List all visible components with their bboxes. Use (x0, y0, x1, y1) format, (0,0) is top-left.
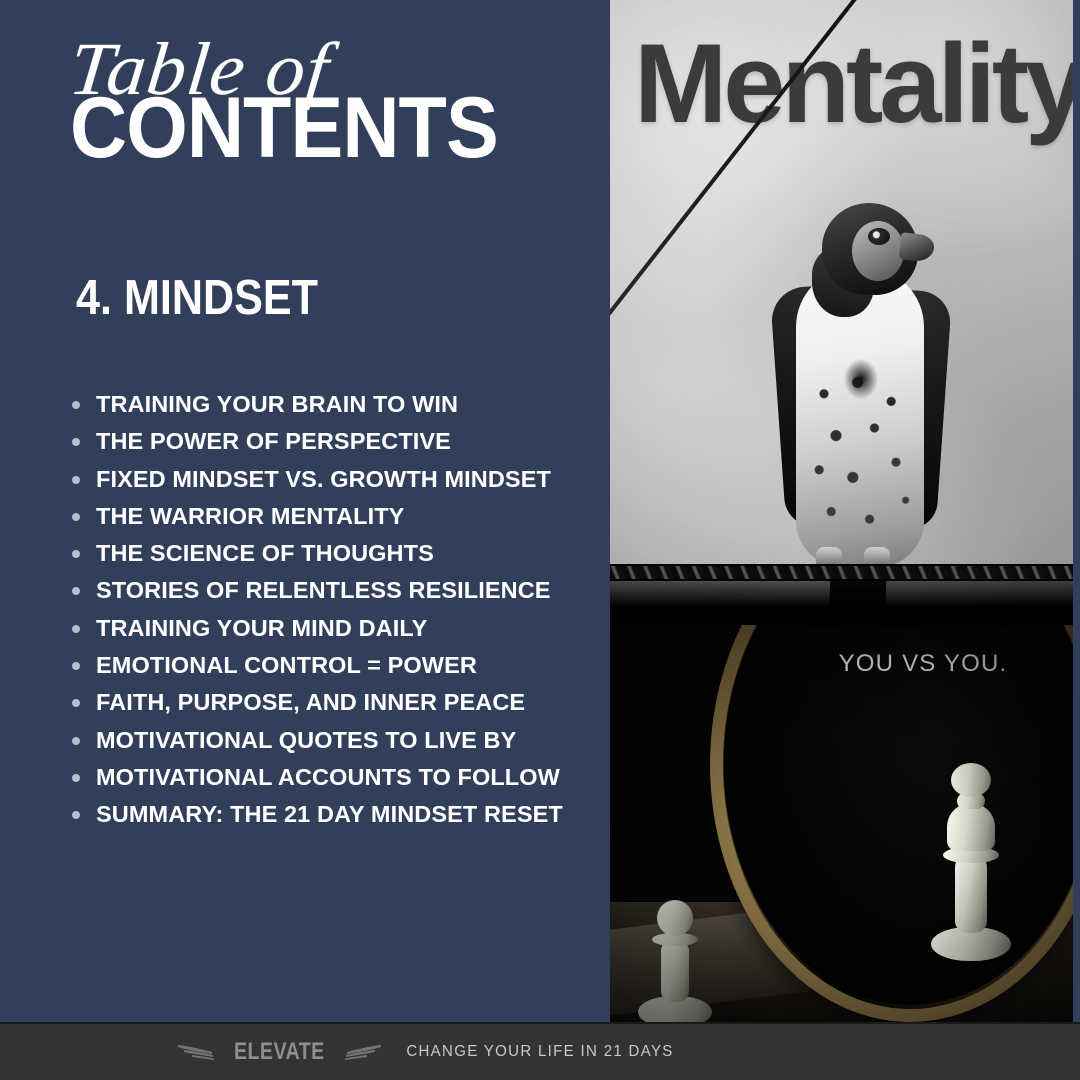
list-item[interactable]: EMOTIONAL CONTROL = POWER (66, 647, 596, 684)
list-item[interactable]: MOTIVATIONAL ACCOUNTS TO FOLLOW (66, 759, 596, 796)
king-body (947, 803, 995, 851)
slide-canvas: Table of CONTENTS 4. MINDSET TRAINING YO… (0, 0, 1080, 1080)
chess-pawn (638, 878, 712, 1022)
list-item[interactable]: SUMMARY: THE 21 DAY MINDSET RESET (66, 796, 596, 833)
chess-mirror-photo: YOU VS YOU. (610, 625, 1080, 1022)
pawn-head (657, 900, 693, 936)
table-of-contents-panel: Table of CONTENTS 4. MINDSET TRAINING YO… (0, 0, 610, 1022)
toc-script-title: Table of (66, 34, 610, 105)
hawk-icon (760, 182, 965, 567)
pawn-stem (661, 940, 689, 1002)
footer-tagline: CHANGE YOUR LIFE IN 21 DAYS (32, 1043, 1047, 1061)
king-crown (951, 763, 991, 797)
list-item[interactable]: FIXED MINDSET VS. GROWTH MINDSET (66, 461, 596, 498)
right-edge-strip (1073, 0, 1080, 1022)
list-item[interactable]: FAITH, PURPOSE, AND INNER PEACE (66, 684, 596, 721)
page-title: Table of CONTENTS (70, 34, 590, 168)
cable-shadow (610, 579, 1080, 625)
hawk-chest-blotch (844, 359, 878, 399)
list-item[interactable]: MOTIVATIONAL QUOTES TO LIVE BY (66, 722, 596, 759)
king-reflection (931, 761, 1011, 961)
hawk-photo: Mentality (610, 0, 1080, 625)
hawk-beak (899, 232, 936, 262)
list-item[interactable]: THE SCIENCE OF THOUGHTS (66, 535, 596, 572)
list-item[interactable]: THE WARRIOR MENTALITY (66, 498, 596, 535)
list-item[interactable]: TRAINING YOUR MIND DAILY (66, 610, 596, 647)
list-item[interactable]: THE POWER OF PERSPECTIVE (66, 423, 596, 460)
hawk-eye (868, 228, 890, 245)
image-column: Mentality (610, 0, 1080, 1022)
toc-list: TRAINING YOUR BRAIN TO WIN THE POWER OF … (66, 386, 596, 834)
list-item[interactable]: STORIES OF RELENTLESS RESILIENCE (66, 572, 596, 609)
footer-bar: ELEVATE CHANGE YOUR LIFE IN 21 DAYS (0, 1022, 1080, 1080)
hawk-speckles (800, 371, 920, 561)
king-stem (955, 855, 987, 933)
list-item[interactable]: TRAINING YOUR BRAIN TO WIN (66, 386, 596, 423)
section-title: 4. MINDSET (76, 270, 318, 326)
mentality-headline: Mentality (634, 28, 1080, 140)
twisted-cable (610, 564, 1080, 581)
you-vs-you-caption: YOU VS YOU. (723, 650, 1080, 678)
